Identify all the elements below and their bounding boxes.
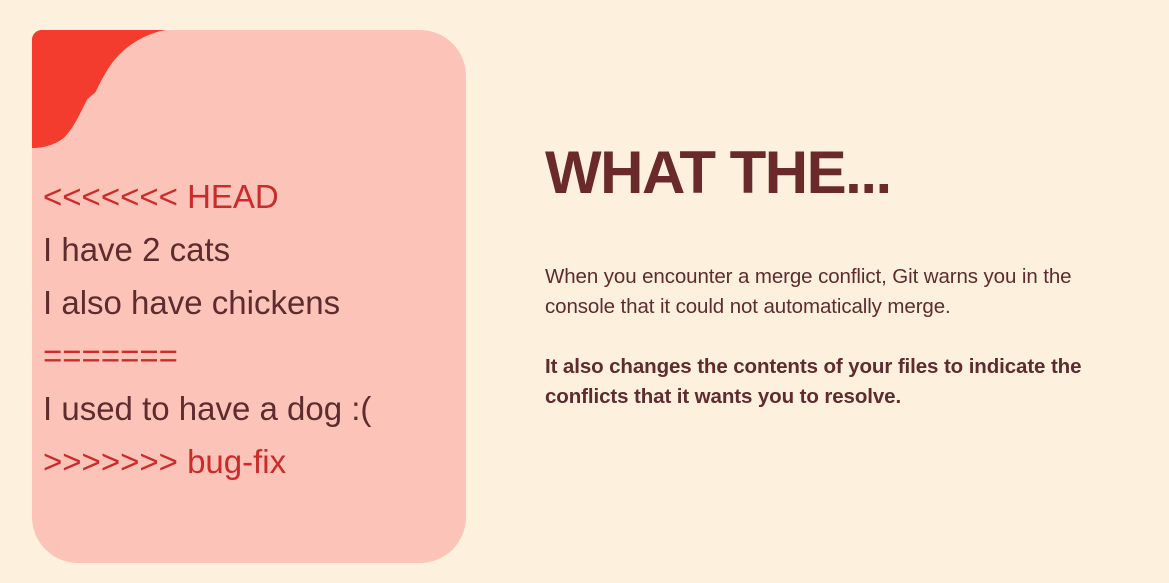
page-title: WHAT THE... [545, 140, 1125, 206]
explanation-paragraph-1: When you encounter a merge conflict, Git… [545, 262, 1125, 322]
code-line-theirs-1: I used to have a dog :( [43, 382, 458, 435]
explanation-paragraph-2: It also changes the contents of your fil… [545, 352, 1125, 412]
code-line-conflict-separator: ======= [43, 329, 458, 382]
conflict-code-block: <<<<<<< HEAD I have 2 cats I also have c… [43, 170, 458, 488]
code-line-ours-1: I have 2 cats [43, 223, 458, 276]
explanation-column: WHAT THE... When you encounter a merge c… [545, 140, 1125, 412]
code-line-conflict-start: <<<<<<< HEAD [43, 170, 458, 223]
code-line-ours-2: I also have chickens [43, 276, 458, 329]
merge-conflict-note-card: <<<<<<< HEAD I have 2 cats I also have c… [32, 30, 466, 563]
folded-corner-icon [32, 30, 166, 158]
code-line-conflict-end: >>>>>>> bug-fix [43, 435, 458, 488]
